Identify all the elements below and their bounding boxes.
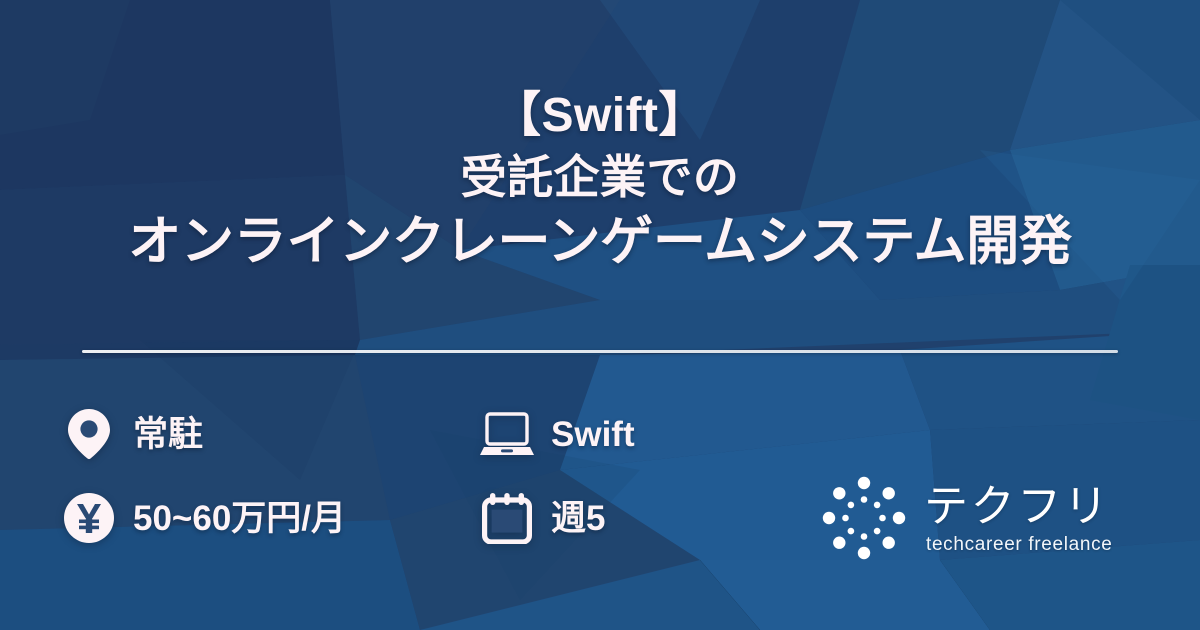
meta-row: 常駐 Swift [62,392,842,476]
job-meta-list: 常駐 Swift [62,392,842,560]
laptop-icon [480,407,534,461]
meta-item-salary: 50~60万円/月 [62,491,480,545]
dot-cluster-icon [818,472,910,564]
title-line-1: 【Swift】 [0,86,1200,146]
page-title: 【Swift】 受託企業での オンラインクレーンゲームシステム開発 [0,86,1200,276]
meta-item-work-style: 常駐 [62,407,480,461]
meta-label-salary: 50~60万円/月 [133,501,346,536]
meta-label-workdays: 週5 [551,501,605,536]
meta-label-work-style: 常駐 [133,417,203,452]
job-banner-card: 【Swift】 受託企業での オンラインクレーンゲームシステム開発 常駐 [0,0,1200,630]
calendar-icon [480,491,534,545]
brand-logo: テクフリ techcareer freelance [818,468,1138,568]
meta-label-skill: Swift [551,417,635,452]
meta-row: 50~60万円/月 週5 [62,476,842,560]
title-line-2: 受託企業での [0,146,1200,208]
divider [82,350,1118,353]
meta-item-workdays: 週5 [480,491,820,545]
logo-text-group: テクフリ techcareer freelance [924,479,1113,557]
meta-item-skill: Swift [480,407,820,461]
location-pin-icon [62,407,116,461]
title-line-3: オンラインクレーンゲームシステム開発 [0,208,1200,276]
logo-tagline: techcareer freelance [924,533,1113,557]
yen-circle-icon [62,491,116,545]
logo-wordmark: テクフリ [924,481,1111,533]
